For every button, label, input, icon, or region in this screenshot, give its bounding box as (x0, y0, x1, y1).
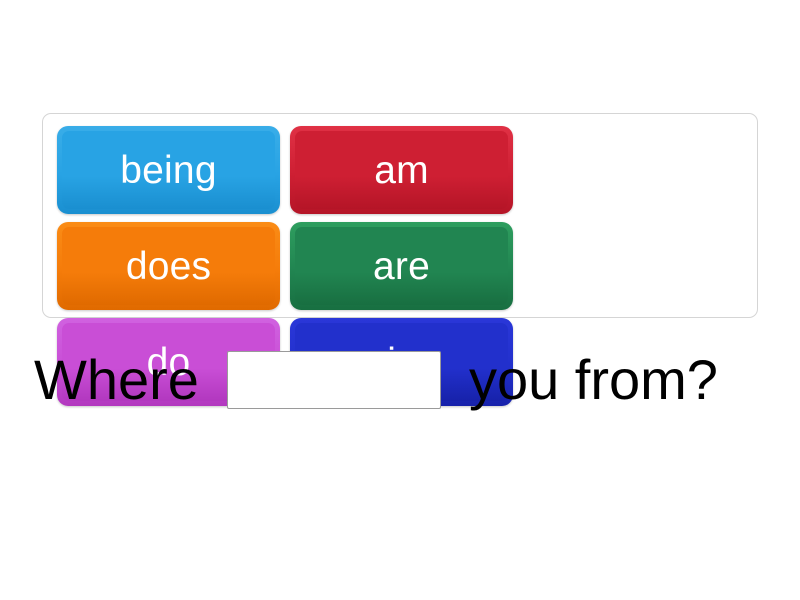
sentence-text-before: Where (34, 352, 199, 408)
word-tile-face: are (295, 227, 508, 305)
word-tile-face: am (295, 131, 508, 209)
answer-blank-dropzone[interactable] (227, 351, 441, 409)
word-tile-face: does (62, 227, 275, 305)
word-bank-panel: beingamdoesaredois (42, 113, 758, 318)
word-tile-label: being (120, 151, 216, 190)
word-tile[interactable]: are (290, 222, 513, 310)
sentence-row: Where you from? (34, 332, 774, 428)
sentence-text-after: you from? (469, 352, 718, 408)
word-tile[interactable]: being (57, 126, 280, 214)
word-tile[interactable]: am (290, 126, 513, 214)
word-tile-label: are (373, 247, 430, 286)
word-tile-label: does (126, 247, 211, 286)
word-tile-face: being (62, 131, 275, 209)
word-tile-label: am (374, 151, 429, 190)
word-tile[interactable]: does (57, 222, 280, 310)
